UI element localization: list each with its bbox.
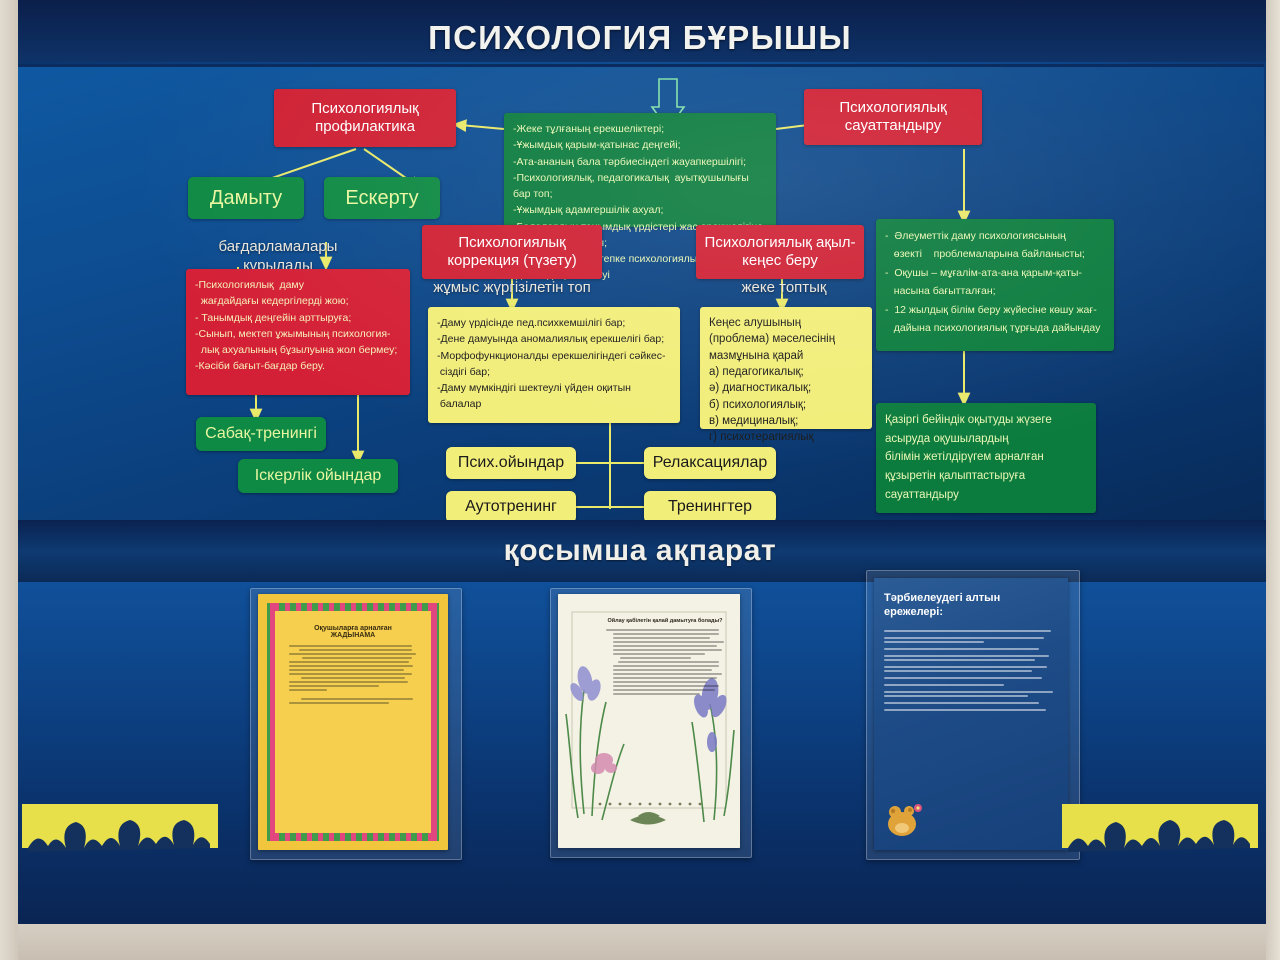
board-title-text: ПСИХОЛОГИЯ БҰРЫШЫ: [428, 19, 852, 57]
detail-line: өзекті проблемаларына байланысты;: [885, 245, 1105, 263]
caption-consulting-group: жеке топтық: [704, 279, 864, 298]
detail-line: жағдайдағы кедергілерді жою;: [195, 293, 401, 309]
detail-line: а) педагогикалық;: [709, 364, 863, 380]
detail-line: лық ахуалының бұзылуына жол бермеу;: [195, 342, 401, 358]
node-literacy-details-1: - Әлеуметтік даму психологиясының өзекті…: [876, 219, 1114, 351]
detail-line: білімін жетілдірүгем арналған: [885, 448, 1087, 467]
node-correction-details: -Даму үрдісінде пед.психкемшілігі бар; -…: [428, 307, 680, 423]
detail-line: мазмұнына қарай: [709, 348, 863, 364]
detail-line: - 12 жылдық білім беру жүйесіне көшу жағ…: [885, 301, 1105, 319]
node-damytu: Дамыту: [188, 177, 304, 219]
diagram-panel: -Жеке тұлғаның ерекшеліктері; -Ұжымдық қ…: [16, 64, 1264, 523]
document-inner: Оқушыларға арналған ЖАДЫНАМА: [275, 611, 431, 833]
detail-line: Қазіргі бейіндік оқытуды жүзеге: [885, 411, 1087, 430]
node-label: Психологиялық ақыл-кеңес беру: [704, 234, 856, 269]
document-title: Тәрбиелеудегі алтын ережелері:: [884, 592, 1056, 620]
node-label: Ескерту: [345, 187, 418, 210]
detail-line: г) психотерапиялық: [709, 429, 863, 445]
caption-text: жеке топтық: [742, 279, 827, 296]
node-label: Іскерлік ойындар: [255, 467, 382, 485]
detail-line: -Дене дамуында аномалиялық ерекшелігі ба…: [437, 331, 671, 347]
node-lesson-training: Сабақ-тренингі: [196, 417, 326, 451]
detail-line: -Морфофункционалды ерекшелігіндегі сәйке…: [437, 348, 671, 364]
node-label: Псих.ойындар: [458, 454, 564, 472]
board-title: ПСИХОЛОГИЯ БҰРЫШЫ: [0, 14, 1280, 62]
node-correction-header: Психологиялық коррекция (түзету): [422, 225, 602, 279]
detail-line: сіздігі бар;: [437, 364, 671, 380]
document-sheet: Ойлау қабілетін қалай дамытуға болады?: [558, 594, 740, 848]
center-line: -Ата-ананың бала тәрбиесіндегі жауапкерш…: [513, 154, 767, 170]
node-eskertu: Ескерту: [324, 177, 440, 219]
node-literacy-header: Психологиялық сауаттандыру: [804, 89, 982, 145]
node-label: Дамыту: [210, 187, 282, 210]
detail-line: -Сынып, мектеп ұжымының психология-: [195, 326, 401, 342]
node-label: Аутотренинг: [465, 498, 557, 516]
detail-line: сауаттандыру: [885, 486, 1087, 505]
kazakh-ornament-left: [22, 802, 218, 854]
node-label: Психологиялық коррекция (түзету): [430, 234, 594, 269]
node-relaxation: Релаксациялар: [644, 447, 776, 479]
node-label: Психологиялық сауаттандыру: [812, 99, 974, 134]
center-line: -Психологиялық, педагогикалық ауытқушылы…: [513, 170, 767, 203]
document-yellow-memo[interactable]: Оқушыларға арналған ЖАДЫНАМА: [250, 588, 460, 858]
node-label: Релаксациялар: [653, 454, 768, 472]
detail-line: асыруда оқушылардың: [885, 430, 1087, 449]
board-subtitle-text: қосымша ақпарат: [504, 534, 777, 568]
document-title: Ойлау қабілетін қалай дамытуға болады?: [606, 618, 724, 625]
detail-line: құзыретін қалыптастыруға: [885, 467, 1087, 486]
caption-correction-group: жұмыс жүргізілетін топ: [402, 279, 622, 298]
detail-line: (проблема) мәселесінің: [709, 331, 863, 347]
detail-line: -Даму мүмкіндігі шектеулі үйден оқитын: [437, 380, 671, 396]
document-sheet: Оқушыларға арналған ЖАДЫНАМА: [258, 594, 448, 850]
node-business-games: Іскерлік ойындар: [238, 459, 398, 493]
detail-line: ә) диагностикалық;: [709, 380, 863, 396]
detail-line: -Психологиялық даму: [195, 277, 401, 293]
caption-programs: бағдарламалары құрылады: [176, 219, 380, 275]
node-psych-games: Псих.ойындар: [446, 447, 576, 479]
center-line: -Ұжымдық қарым-қатынас деңгейі;: [513, 137, 767, 153]
node-literacy-details-2: Қазіргі бейіндік оқытуды жүзеге асыруда …: [876, 403, 1096, 513]
detail-line: балалар: [437, 396, 671, 412]
caption-text: жұмыс жүргізілетін топ: [433, 279, 591, 296]
floor-strip: [0, 924, 1280, 960]
screenshot-root: ПСИХОЛОГИЯ БҰРЫШЫ: [0, 0, 1280, 960]
detail-line: насына бағытталған;: [885, 282, 1105, 300]
node-prophylaxis-header: Психологиялық профилактика: [274, 89, 456, 147]
detail-line: б) психологиялық;: [709, 397, 863, 413]
center-characteristics-box: -Жеке тұлғаның ерекшеліктері; -Ұжымдық қ…: [504, 113, 776, 227]
detail-line: в) медициналық;: [709, 413, 863, 429]
kazakh-ornament-right: [1062, 802, 1258, 854]
center-line: -Жеке тұлғаның ерекшеліктері;: [513, 121, 767, 137]
wall-left-edge: [0, 0, 18, 960]
node-consulting-details: Кеңес алушының (проблема) мәселесінің ма…: [700, 307, 872, 429]
document-iris-memo[interactable]: Ойлау қабілетін қалай дамытуға болады?: [550, 588, 750, 856]
document-blue-rules[interactable]: Тәрбиелеудегі алтын ережелері:: [866, 570, 1078, 858]
node-autotraining: Аутотренинг: [446, 491, 576, 523]
document-title: Оқушыларға арналған ЖАДЫНАМА: [289, 625, 417, 639]
detail-line: -Даму үрдісінде пед.психкемшілігі бар;: [437, 315, 671, 331]
node-trainings: Тренингтер: [644, 491, 776, 523]
detail-line: - Әлеуметтік даму психологиясының: [885, 227, 1105, 245]
wall-right-edge: [1266, 0, 1280, 960]
node-consulting-header: Психологиялық ақыл-кеңес беру: [696, 225, 864, 279]
detail-line: Кеңес алушының: [709, 315, 863, 331]
center-line: -Ұжымдық адамгершілік ахуал;: [513, 202, 767, 218]
detail-line: дайына психологиялық тұрғыда дайындау: [885, 319, 1105, 337]
node-prophylaxis-details: -Психологиялық даму жағдайдағы кедергіле…: [186, 269, 410, 395]
detail-line: - Оқушы – мұғалім-ата-ана қарым-қаты-: [885, 264, 1105, 282]
node-label: Сабақ-тренингі: [205, 425, 317, 443]
node-label: Тренингтер: [668, 498, 752, 516]
document-sheet: Тәрбиелеудегі алтын ережелері:: [874, 578, 1068, 850]
node-label: Психологиялық профилактика: [282, 100, 448, 135]
board-subtitle: қосымша ақпарат: [0, 520, 1280, 582]
bear-sticker-icon: [882, 798, 928, 840]
detail-line: - Танымдық деңгейін арттыруға;: [195, 310, 401, 326]
detail-line: -Кәсіби бағыт-бағдар беру.: [195, 358, 401, 374]
